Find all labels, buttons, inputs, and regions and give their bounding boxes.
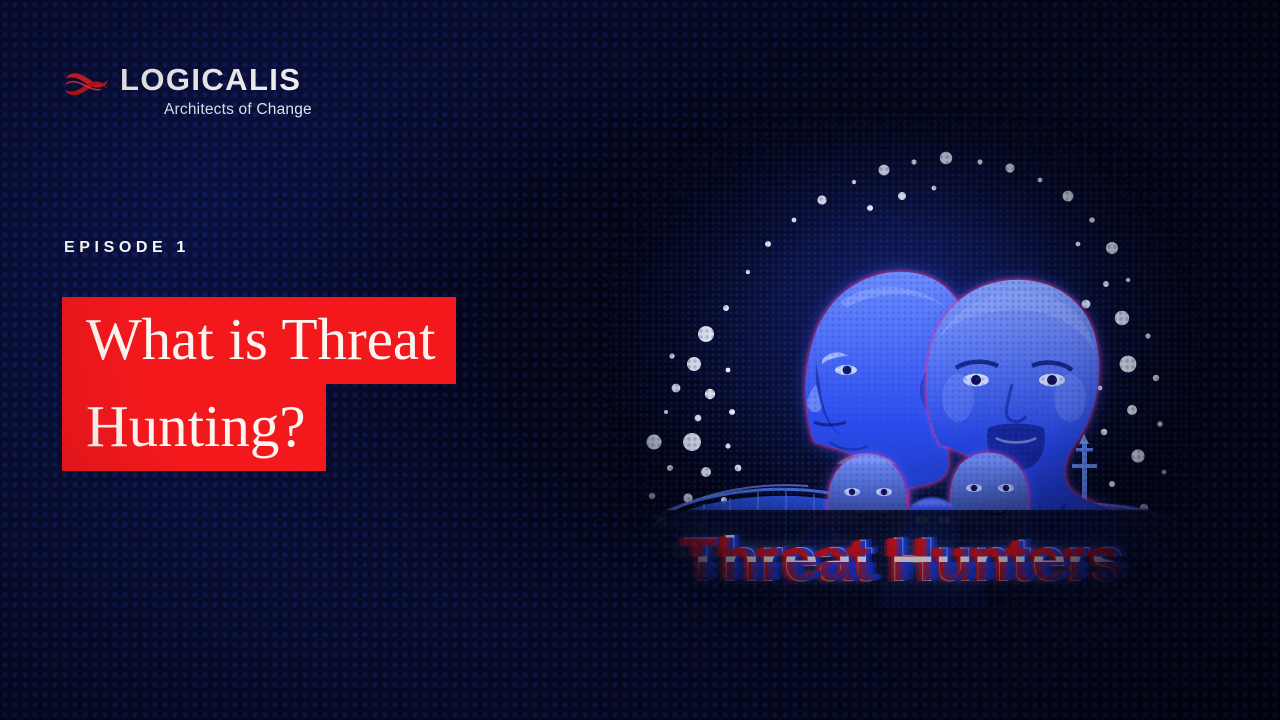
- episode-title-line-1: What is Threat: [62, 297, 456, 384]
- threat-hunters-wordmark: Threat Hunters: [608, 529, 1200, 592]
- logicalis-wordmark: LOGICALIS: [120, 64, 312, 95]
- podcast-cover-art[interactable]: Threat Hunters: [608, 112, 1200, 608]
- episode-title: What is Threat Hunting?: [62, 297, 622, 471]
- episode-title-line-2: Hunting?: [62, 384, 326, 471]
- threat-hunters-wordmark-text: Threat Hunters: [683, 529, 1124, 592]
- logicalis-tagline: Architects of Change: [164, 102, 312, 118]
- slide-canvas: LOGICALIS Architects of Change EPISODE 1…: [0, 0, 1280, 720]
- logicalis-logo[interactable]: LOGICALIS Architects of Change: [62, 64, 312, 118]
- logicalis-wave-icon: [62, 67, 110, 103]
- episode-eyebrow: EPISODE 1: [64, 240, 190, 256]
